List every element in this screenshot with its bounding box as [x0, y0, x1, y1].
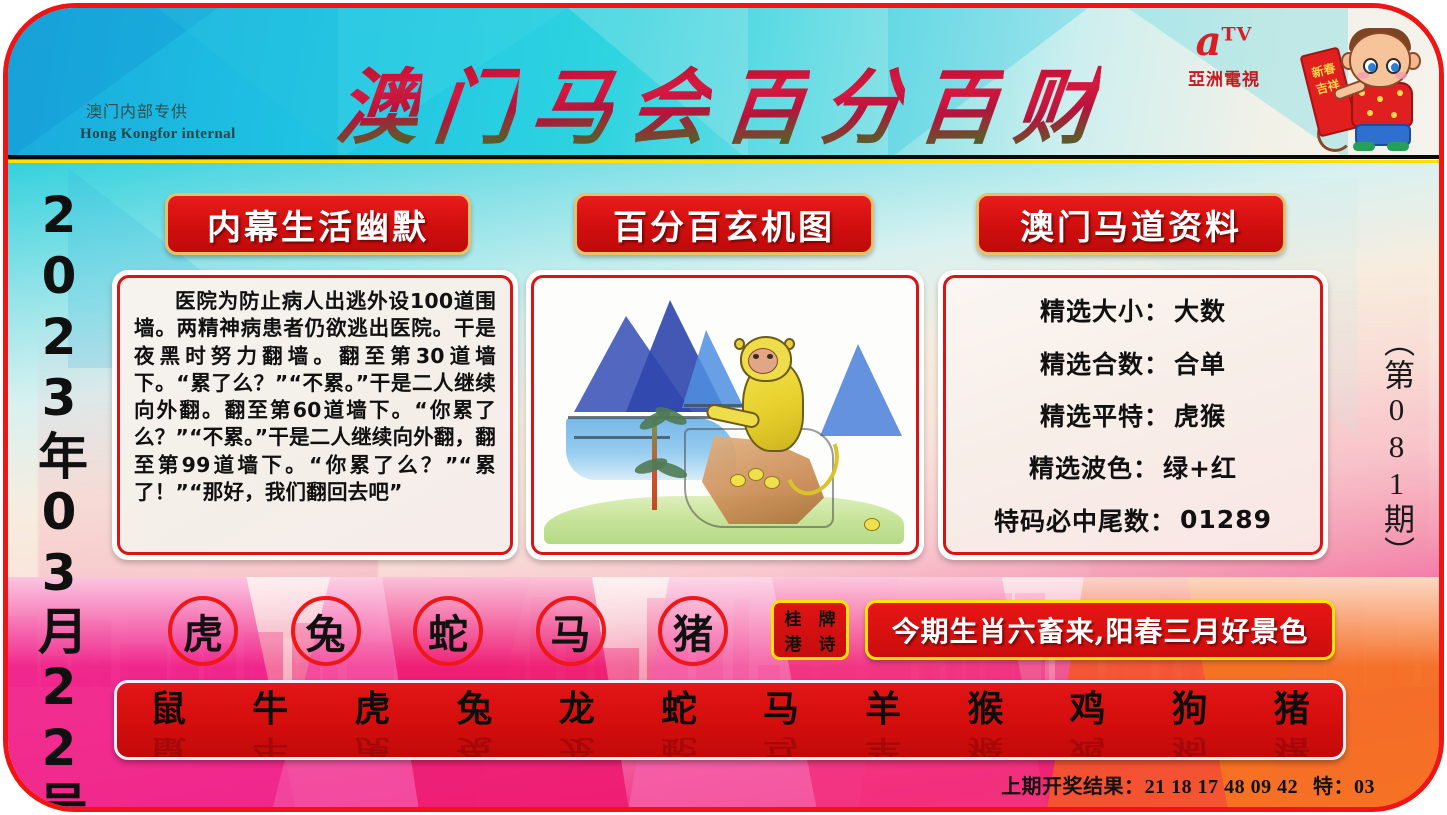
- header-subtitle-en: Hong Kongfor internal: [80, 126, 236, 143]
- joke-panel: 医院为防止病人出逃外设100道围墙。两精神病患者仍欲逃出医院。干是夜黑时努力翻墙…: [112, 270, 518, 560]
- info-key: 精选平特：: [1040, 397, 1170, 433]
- badge-char-1: 桂: [785, 605, 802, 630]
- page-title: 澳 门 马 会 百 分 百 财: [338, 46, 1098, 154]
- result-special-number: 03: [1354, 776, 1375, 798]
- badge-char-4: 诗: [819, 630, 836, 655]
- atv-logo-mark: aTV: [1164, 22, 1284, 62]
- info-value: 合单: [1174, 345, 1226, 381]
- title-char: 澳: [332, 41, 427, 160]
- title-char: 百: [719, 41, 814, 160]
- zodiac-circle[interactable]: 马: [536, 596, 606, 666]
- issue-number-vertical: （第081期）: [1363, 326, 1419, 546]
- zodiac-circle[interactable]: 猪: [658, 596, 728, 666]
- poster-frame: 澳门内部专供 Hong Kongfor internal 澳 门 马 会 百 分…: [3, 3, 1444, 812]
- atv-logo-tv: TV: [1222, 24, 1253, 46]
- zodiac-bar-reflection: 猴: [967, 736, 1003, 758]
- title-char: 财: [1010, 41, 1105, 160]
- zodiac-bar-item[interactable]: 牛牛: [252, 691, 288, 760]
- zodiac-bar-reflection: 虎: [354, 736, 390, 758]
- header-divider-yellow: [8, 160, 1439, 163]
- zodiac-bar-reflection: 兔: [457, 736, 493, 758]
- zodiac-bar-label: 猴: [967, 688, 1003, 730]
- info-value: 01289: [1180, 505, 1272, 534]
- header-divider-black: [8, 155, 1439, 159]
- info-key: 精选波色：: [1029, 449, 1159, 485]
- zodiac-bar-item[interactable]: 虎虎: [354, 691, 390, 760]
- monkey-illustration: [534, 278, 916, 552]
- monkey-mascot-icon: 新春 吉祥: [1303, 24, 1421, 152]
- zodiac-bar-label: 狗: [1172, 688, 1208, 730]
- zodiac-bar-label: 兔: [457, 688, 493, 730]
- badge-char-3: 港: [785, 630, 802, 655]
- zodiac-bar-item[interactable]: 猪猪: [1274, 691, 1310, 760]
- info-row: 特码必中尾数： 01289: [960, 494, 1306, 546]
- section-title-info[interactable]: 澳门马道资料: [976, 193, 1286, 255]
- zodiac-bar-reflection: 鸡: [1069, 736, 1105, 758]
- info-row: 精选波色： 绿+红: [960, 441, 1306, 493]
- info-value: 虎猴: [1174, 397, 1226, 433]
- zodiac-bar-label: 羊: [865, 688, 901, 730]
- zodiac-bar-item[interactable]: 马马: [763, 691, 799, 760]
- zodiac-bar-label: 蛇: [661, 688, 697, 730]
- title-char: 马: [525, 41, 620, 160]
- zodiac-circle[interactable]: 虎: [168, 596, 238, 666]
- info-value: 大数: [1174, 292, 1226, 328]
- zodiac-bar-item[interactable]: 兔兔: [457, 691, 493, 760]
- zodiac-bar-reflection: 龙: [559, 736, 595, 758]
- zodiac-bar-reflection: 马: [763, 736, 799, 758]
- title-char: 门: [429, 41, 524, 160]
- title-char: 会: [622, 41, 717, 160]
- info-key: 精选合数：: [1040, 345, 1170, 381]
- zodiac-circle[interactable]: 兔: [291, 596, 361, 666]
- zodiac-bar-item[interactable]: 猴猴: [967, 691, 1003, 760]
- zodiac-bar-label: 鼠: [150, 688, 186, 730]
- zodiac-bar-label: 龙: [559, 688, 595, 730]
- zodiac-bar-item[interactable]: 蛇蛇: [661, 691, 697, 760]
- zodiac-bar: 鼠鼠牛牛虎虎兔兔龙龙蛇蛇马马羊羊猴猴鸡鸡狗狗猪猪: [114, 680, 1346, 760]
- result-numbers: 21 18 17 48 09 42: [1145, 776, 1299, 798]
- zodiac-bar-label: 虎: [354, 688, 390, 730]
- slogan-banner: 今期生肖六畜来,阳春三月好景色: [865, 600, 1335, 660]
- title-char: 百: [913, 41, 1008, 160]
- badge-char-2: 牌: [819, 605, 836, 630]
- zodiac-bar-item[interactable]: 狗狗: [1172, 691, 1208, 760]
- info-key: 特码必中尾数：: [994, 502, 1176, 538]
- section-title-picture-label: 百分百玄机图: [613, 200, 835, 249]
- section-title-joke[interactable]: 内幕生活幽默: [165, 193, 471, 255]
- zodiac-bar-label: 猪: [1274, 688, 1310, 730]
- zodiac-bar-item[interactable]: 龙龙: [559, 691, 595, 760]
- atv-logo: aTV 亞洲電視: [1164, 22, 1284, 96]
- zodiac-bar-reflection: 蛇: [661, 736, 697, 758]
- info-panel: 精选大小： 大数 精选合数： 合单 精选平特： 虎猴 精选波色： 绿+红 特码必…: [938, 270, 1328, 560]
- result-special-label: 特：: [1313, 774, 1354, 798]
- zodiac-bar-reflection: 猪: [1274, 736, 1310, 758]
- info-row: 精选大小： 大数: [960, 284, 1306, 336]
- issue-date-vertical: 2023年03月22号: [22, 186, 84, 686]
- zodiac-circle[interactable]: 蛇: [413, 596, 483, 666]
- selected-zodiac-row: 虎 兔 蛇 马 猪: [168, 592, 728, 670]
- atv-logo-cn: 亞洲電視: [1164, 65, 1284, 90]
- zodiac-bar-reflection: 牛: [252, 736, 288, 758]
- joke-text: 医院为防止病人出逃外设100道围墙。两精神病患者仍欲逃出医院。干是夜黑时努力翻墙…: [134, 288, 496, 506]
- section-title-joke-label: 内幕生活幽默: [207, 200, 429, 249]
- poster-root: 澳门内部专供 Hong Kongfor internal 澳 门 马 会 百 分…: [0, 0, 1447, 815]
- page-header: 澳门内部专供 Hong Kongfor internal 澳 门 马 会 百 分…: [8, 8, 1439, 160]
- zodiac-bar-reflection: 狗: [1172, 736, 1208, 758]
- info-key: 精选大小：: [1040, 292, 1170, 328]
- info-row: 精选平特： 虎猴: [960, 389, 1306, 441]
- picture-panel: [526, 270, 924, 560]
- section-title-picture[interactable]: 百分百玄机图: [574, 193, 874, 255]
- zodiac-bar-item[interactable]: 鼠鼠: [150, 691, 186, 760]
- poem-badge[interactable]: 桂 牌 港 诗: [771, 600, 849, 660]
- zodiac-bar-reflection: 羊: [865, 736, 901, 758]
- zodiac-bar-reflection: 鼠: [150, 736, 186, 758]
- zodiac-bar-item[interactable]: 羊羊: [865, 691, 901, 760]
- info-value: 绿+红: [1163, 449, 1237, 485]
- zodiac-bar-label: 马: [763, 688, 799, 730]
- header-subtitle-cn: 澳门内部专供: [86, 98, 188, 122]
- zodiac-bar-label: 鸡: [1069, 688, 1105, 730]
- title-char: 分: [816, 41, 911, 160]
- last-draw-result: 上期开奖结果：21 18 17 48 09 42 特：03: [1001, 770, 1375, 799]
- info-row: 精选合数： 合单: [960, 336, 1306, 388]
- result-label: 上期开奖结果：: [1001, 774, 1145, 798]
- section-title-info-label: 澳门马道资料: [1020, 200, 1242, 249]
- zodiac-bar-item[interactable]: 鸡鸡: [1069, 691, 1105, 760]
- zodiac-bar-label: 牛: [252, 688, 288, 730]
